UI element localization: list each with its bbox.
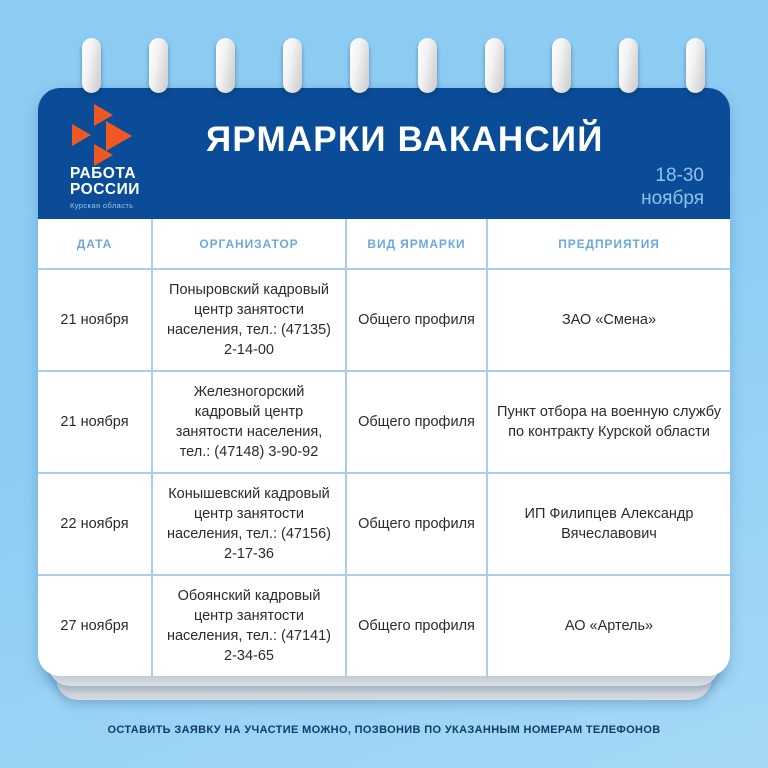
cell-enterprise: ИП Филипцев Александр Вячеславович bbox=[487, 473, 730, 575]
page-title: ЯРМАРКИ ВАКАНСИЙ bbox=[206, 120, 604, 160]
cell-date: 27 ноября bbox=[38, 575, 152, 676]
date-range-line2: ноября bbox=[641, 187, 704, 210]
binding-ring bbox=[418, 38, 437, 93]
cell-date: 21 ноября bbox=[38, 371, 152, 473]
date-range-line1: 18-30 bbox=[641, 164, 704, 187]
table-row: 21 ноября Поныровский кадровый центр зан… bbox=[38, 269, 730, 371]
binding-ring bbox=[619, 38, 638, 93]
cell-fair-type: Общего профиля bbox=[346, 371, 487, 473]
binding-ring bbox=[350, 38, 369, 93]
logo-triangle-left-icon bbox=[72, 124, 91, 146]
logo-wordmark-line2: РОССИИ bbox=[70, 182, 174, 198]
logo-region-label: Курская область bbox=[70, 201, 174, 210]
binding-ring bbox=[216, 38, 235, 93]
cell-fair-type: Общего профиля bbox=[346, 575, 487, 676]
footer-note: ОСТАВИТЬ ЗАЯВКУ НА УЧАСТИЕ МОЖНО, ПОЗВОН… bbox=[0, 724, 768, 736]
cell-organizer: Железногорский кадровый центр занятости … bbox=[152, 371, 346, 473]
logo-wordmark-line1: РАБОТА bbox=[70, 166, 174, 182]
cell-organizer: Обоянский кадровый центр занятости насел… bbox=[152, 575, 346, 676]
cell-date: 21 ноября bbox=[38, 269, 152, 371]
logo-triangle-bottom-icon bbox=[94, 144, 113, 166]
rabota-rossii-logo: РАБОТА РОССИИ Курская область bbox=[62, 106, 174, 206]
cell-organizer: Поныровский кадровый центр занятости нас… bbox=[152, 269, 346, 371]
table-row: 27 ноября Обоянский кадровый центр занят… bbox=[38, 575, 730, 676]
cell-date: 22 ноября bbox=[38, 473, 152, 575]
column-header-fair-type: ВИД ЯРМАРКИ bbox=[346, 219, 487, 269]
binding-ring bbox=[283, 38, 302, 93]
table-row: 22 ноября Конышевский кадровый центр зан… bbox=[38, 473, 730, 575]
cell-organizer: Конышевский кадровый центр занятости нас… bbox=[152, 473, 346, 575]
date-range: 18-30 ноября bbox=[641, 164, 704, 210]
cell-fair-type: Общего профиля bbox=[346, 473, 487, 575]
calendar-card: РАБОТА РОССИИ Курская область ЯРМАРКИ ВА… bbox=[38, 88, 730, 676]
binding-ring bbox=[686, 38, 705, 93]
cell-enterprise: ЗАО «Смена» bbox=[487, 269, 730, 371]
binding-ring bbox=[149, 38, 168, 93]
cell-enterprise: АО «Артель» bbox=[487, 575, 730, 676]
table-header-row: ДАТА ОРГАНИЗАТОР ВИД ЯРМАРКИ ПРЕДПРИЯТИЯ bbox=[38, 219, 730, 269]
column-header-enterprise: ПРЕДПРИЯТИЯ bbox=[487, 219, 730, 269]
card-header: РАБОТА РОССИИ Курская область ЯРМАРКИ ВА… bbox=[38, 88, 730, 219]
column-header-date: ДАТА bbox=[38, 219, 152, 269]
binding-ring bbox=[82, 38, 101, 93]
column-header-organizer: ОРГАНИЗАТОР bbox=[152, 219, 346, 269]
table-row: 21 ноября Железногорский кадровый центр … bbox=[38, 371, 730, 473]
logo-wordmark: РАБОТА РОССИИ bbox=[70, 166, 174, 197]
vacancy-fairs-table: ДАТА ОРГАНИЗАТОР ВИД ЯРМАРКИ ПРЕДПРИЯТИЯ… bbox=[38, 219, 730, 676]
cell-enterprise: Пункт отбора на военную службу по контра… bbox=[487, 371, 730, 473]
logo-triangles-icon bbox=[72, 106, 158, 162]
cell-fair-type: Общего профиля bbox=[346, 269, 487, 371]
binding-ring bbox=[485, 38, 504, 93]
binding-ring bbox=[552, 38, 571, 93]
